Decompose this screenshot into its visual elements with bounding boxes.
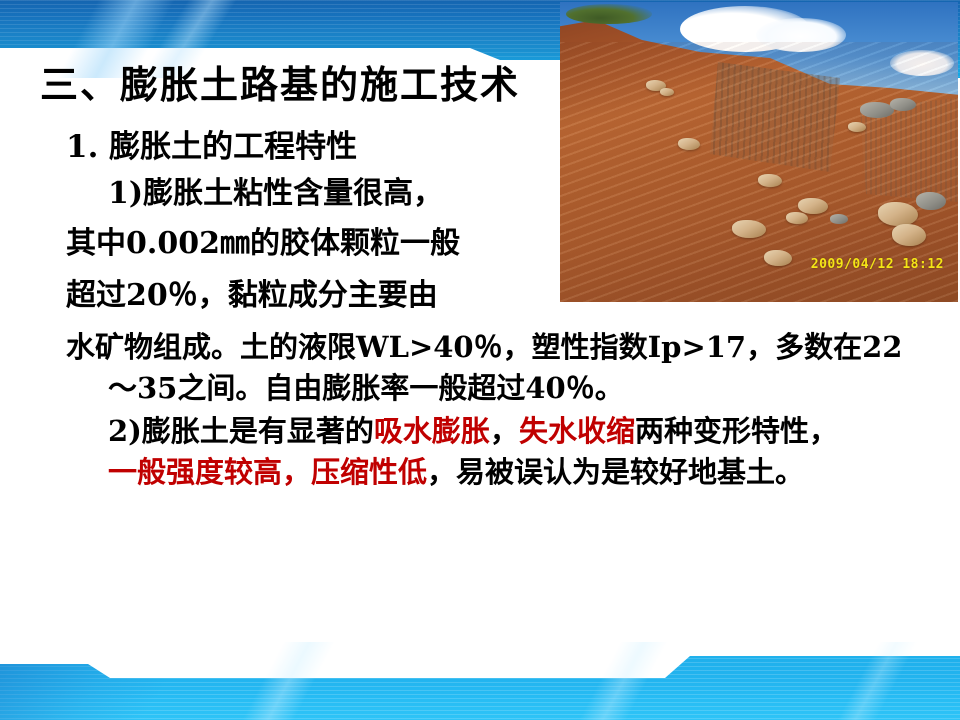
photo-gravel	[890, 98, 916, 111]
photo-rock	[878, 202, 918, 226]
photo-rock	[848, 122, 866, 132]
body-line-6: ～35之间。自由膨胀率一般超过40％。	[108, 374, 960, 403]
photo-rock	[732, 220, 766, 238]
photo-rock	[678, 138, 700, 150]
slide-title: 三、膨胀土路基的施工技术	[0, 63, 560, 108]
photo-rock	[798, 198, 828, 214]
body-line-5: 水矿物组成。土的液限WL>40％，塑性指数Ip>17，多数在22	[66, 333, 960, 362]
photo-rock	[892, 224, 926, 246]
body-line-7-text-a: 2)膨胀土是有显著的	[108, 414, 374, 448]
body-line-8: 一般强度较高，压缩性低，易被误认为是较好地基土。	[108, 458, 960, 487]
photo-rock	[786, 212, 808, 224]
footer-banner	[0, 642, 960, 720]
body-line-7-text-c: 两种变形特性，	[635, 414, 838, 448]
body-line-7-comma: ，	[490, 414, 519, 448]
presentation-slide: 三、膨胀土路基的施工技术 2009/04/12 18:12 1. 膨胀土的工程特…	[0, 0, 960, 720]
body-line-7-highlight-1: 吸水膨胀	[374, 414, 490, 448]
body-line-item-2: 2)膨胀土是有显著的吸水膨胀，失水收缩两种变形特性，	[108, 417, 960, 446]
body-line-7-highlight-2: 失水收缩	[519, 414, 635, 448]
photo-rock	[758, 174, 782, 187]
photo-gravel	[860, 102, 894, 118]
body-line-8-text-a: ，易被误认为是较好地基土。	[427, 455, 804, 489]
footer-banner-fill	[0, 642, 960, 720]
photo-timestamp: 2009/04/12 18:12	[811, 257, 944, 272]
photo-gravel	[916, 192, 946, 210]
photo-vegetation	[566, 4, 652, 24]
photo-rock	[660, 88, 674, 96]
body-line-8-highlight-1: 一般强度较高，压缩性低	[108, 455, 427, 489]
photo-gravel	[830, 214, 848, 224]
expansive-soil-cut-slope-photo: 2009/04/12 18:12	[560, 2, 958, 302]
photo-rock	[764, 250, 792, 266]
